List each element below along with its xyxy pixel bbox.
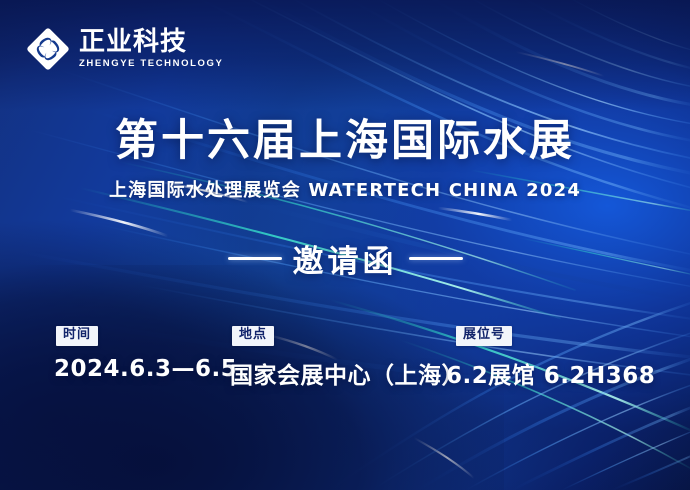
- invitation-rule-left: [228, 257, 282, 260]
- invitation-heading: 邀请函: [0, 236, 690, 281]
- info-value-booth: 6.2展馆 6.2H368: [446, 356, 655, 390]
- brand-name-en: ZHENGYE TECHNOLOGY: [79, 59, 223, 69]
- info-label-time: 时间: [56, 326, 98, 346]
- event-info-values: 2024.6.3—6.5 国家会展中心（上海） 6.2展馆 6.2H368: [56, 356, 636, 386]
- brand-name-cn: 正业科技: [79, 29, 223, 55]
- sub-title: 上海国际水处理展览会 WATERTECH CHINA 2024: [0, 176, 690, 202]
- main-title: 第十六届上海国际水展: [0, 118, 690, 165]
- event-info: 时间 地点 展位号 2024.6.3—6.5 国家会展中心（上海） 6.2展馆 …: [56, 326, 636, 386]
- zhengye-diamond-swirl-logo-icon: [26, 27, 70, 71]
- title-block: 第十六届上海国际水展 上海国际水处理展览会 WATERTECH CHINA 20…: [0, 118, 690, 202]
- invitation-poster: 正业科技 ZHENGYE TECHNOLOGY 第十六届上海国际水展 上海国际水…: [0, 0, 690, 490]
- info-value-time: 2024.6.3—6.5: [54, 356, 237, 382]
- info-label-booth: 展位号: [456, 326, 512, 346]
- event-info-labels: 时间 地点 展位号: [56, 326, 636, 350]
- invitation-rule-right: [409, 257, 463, 260]
- brand-logo-text: 正业科技 ZHENGYE TECHNOLOGY: [79, 29, 223, 69]
- info-label-venue: 地点: [232, 326, 274, 346]
- invitation-word: 邀请函: [293, 236, 398, 281]
- brand-logo: 正业科技 ZHENGYE TECHNOLOGY: [26, 27, 223, 71]
- info-value-venue: 国家会展中心（上海）: [230, 356, 465, 390]
